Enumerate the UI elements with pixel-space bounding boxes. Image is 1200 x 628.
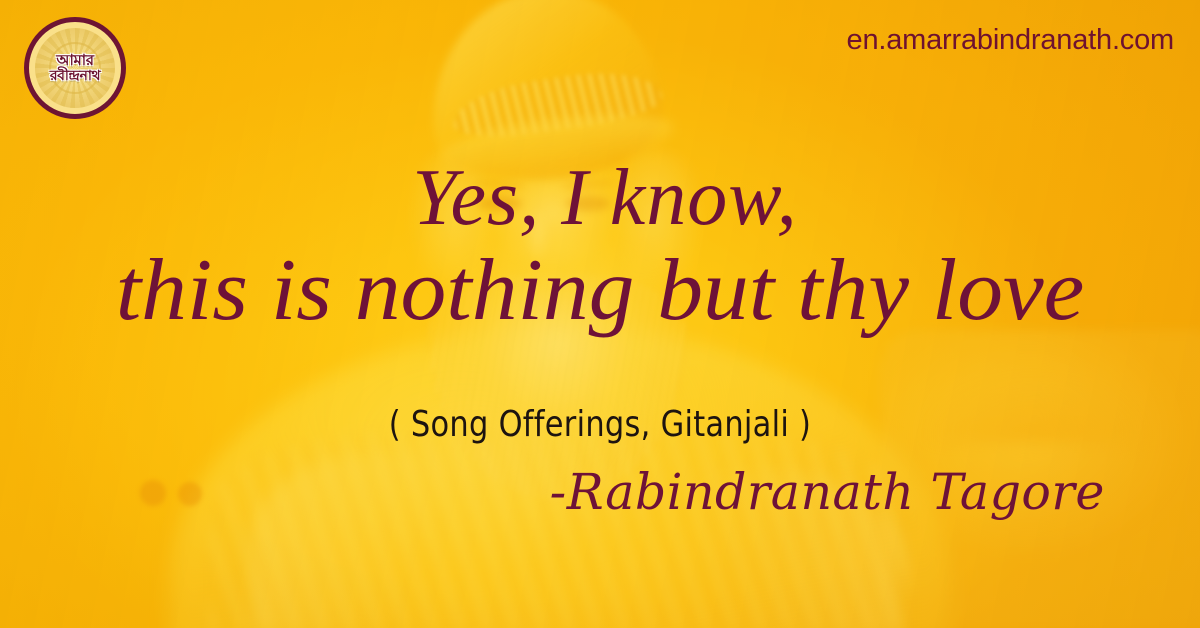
quote-attribution: -Rabindranath Tagore [549,463,1104,521]
logo-text-line2: রবীন্দ্রনাথ [50,69,100,84]
logo-text-line1: আমার [56,51,93,69]
site-url[interactable]: en.amarrabindranath.com [847,24,1174,57]
quote-line-2: this is nothing but thy love [0,246,1200,336]
amar-rabindranath-logo[interactable]: আমার রবীন্দ্রনাথ [24,17,126,119]
quote-line-1: Yes, I know, [0,158,1200,240]
quote-source: ( Song Offerings, Gitanjali ) [36,404,1164,445]
quote-text: Yes, I know, this is nothing but thy lov… [0,158,1200,335]
quote-card: আমার রবীন্দ্রনাথ en.amarrabindranath.com… [0,0,1200,628]
logo-text: আমার রবীন্দ্রনাথ [50,53,100,83]
